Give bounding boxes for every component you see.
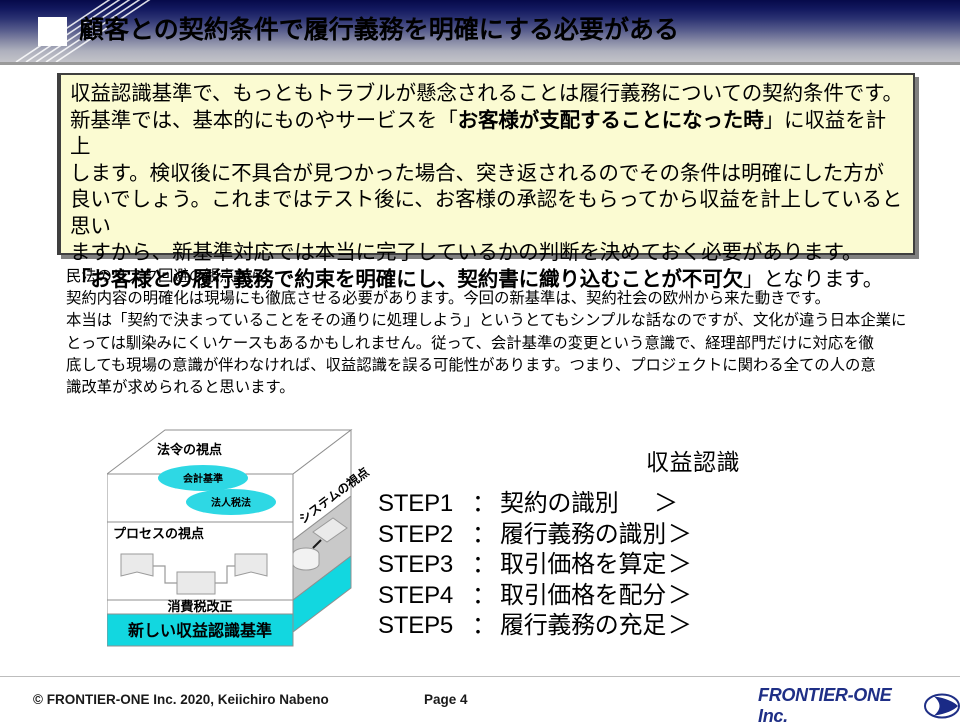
steps-heading: 収益認識 [646,443,740,477]
company-logo: FRONTIER-ONE Inc. [758,685,960,727]
body-line-4: とっては馴染みにくいケースもあるかもしれません。従って、会計基準の変更という意識… [66,333,926,355]
diagram-bubble-1-label: 会計基準 [183,472,223,485]
page-number: Page 4 [424,692,468,707]
step-row: STEP1 ： 契約の識別 ＞ [378,483,708,514]
step-label: STEP2 [378,521,472,549]
title-accent-square [38,17,67,46]
callout-line-5: ますから、新基準対応では本当に完了しているかの判断を決めておく必要があります。 [70,240,906,267]
body-line-5: 底しても現場の意識が伴わなければ、収益認識を誤る可能性があります。つまり、プロジ… [66,355,926,377]
step-text: 履行義務の充足 [500,605,666,640]
callout-line-3: します。検収後に不具合が見つかった場合、突き返されるのでその条件は明確にした方が [70,161,906,188]
company-logo-mark-icon [924,693,960,719]
body-paragraph: 民法のリスク回避の観点から、 契約内容の明確化は現場にも徹底させる必要があります… [66,266,926,399]
diagram-tax-label: 消費税改正 [167,599,232,614]
diagram-process-label: プロセスの視点 [113,526,204,541]
diagram-standard-label: 新しい収益認識基準 [128,621,272,640]
step-label: STEP5 [378,612,472,640]
body-line-6: 識改革が求められると思います。 [66,377,926,399]
diagram-bubble-2-label: 法人税法 [211,496,251,509]
step-label: STEP4 [378,582,472,610]
callout-emphasis-1: お客様が支配することになった時 [458,109,764,132]
callout-text: 収益認識基準で、もっともトラブルが懸念されることは履行義務についての契約条件です… [61,75,913,293]
page-title: 顧客との契約条件で履行義務を明確にする必要がある [79,11,679,49]
body-line-2: 契約内容の明確化は現場にも徹底させる必要があります。今回の新基準は、契約社会の欧… [66,288,926,310]
step-label: STEP3 [378,551,472,579]
callout-line-1: 収益認識基準で、もっともトラブルが懸念されることは履行義務についての契約条件です… [70,81,906,108]
step-row: STEP3 ： 取引価格を算定 ＞ [378,544,708,575]
step-label: STEP1 [378,490,472,518]
perspective-cube-diagram: 法令の視点 会計基準 法人税法 プロセスの視点 システムの視点 消費税改正 新し… [107,428,372,650]
callout-box: 収益認識基準で、もっともトラブルが懸念されることは履行義務についての契約条件です… [57,73,915,255]
step-colon: ： [472,605,500,640]
callout-line-2: 新基準では、基本的にものやサービスを「お客様が支配することになった時」に収益を計… [70,108,906,161]
body-line-1: 民法のリスク回避の観点から、 [66,266,926,288]
footer-divider [0,676,960,677]
step-row: STEP5 ： 履行義務の充足 ＞ [378,605,708,636]
step-row: STEP4 ： 取引価格を配分 ＞ [378,575,708,606]
company-logo-text: FRONTIER-ONE Inc. [758,685,918,727]
step-row: STEP2 ： 履行義務の識別 ＞ [378,514,708,545]
body-line-3: 本当は「契約で決まっていることをその通りに処理しよう」というとてもシンプルな話な… [66,310,926,332]
callout-line-4: 良いでしょう。これまではテスト後に、お客様の承認をもらってから収益を計上している… [70,187,906,240]
title-bar-underline [0,62,960,65]
slide-title-bar: 顧客との契約条件で履行義務を明確にする必要がある [0,0,960,62]
steps-list: STEP1 ： 契約の識別 ＞ STEP2 ： 履行義務の識別 ＞ STEP3 … [378,483,708,636]
copyright-text: © FRONTIER-ONE Inc. 2020, Keiichiro Nabe… [33,692,329,707]
chevron-right-icon: ＞ [668,605,692,640]
diagram-law-label: 法令の視点 [157,442,222,457]
